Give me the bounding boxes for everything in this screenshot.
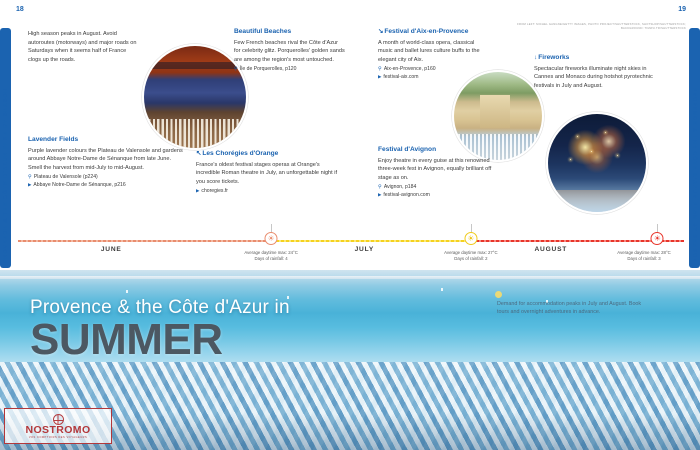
list-item[interactable]: ⚲ Île de Porquerolles, p120 bbox=[234, 66, 346, 74]
list-item[interactable]: ▶ festival-avignon.com bbox=[378, 192, 492, 200]
avignon-title: Festival d'Avignon bbox=[378, 146, 492, 154]
sun-icon: ☀ bbox=[464, 232, 477, 245]
map-pin-icon: ⚲ bbox=[378, 66, 382, 73]
triangle-icon: ▶ bbox=[196, 188, 199, 195]
beaches-links: ⚲ Île de Porquerolles, p120 bbox=[234, 66, 346, 74]
weather-stat-july: Average daytime max: 27°C Days of rainfa… bbox=[416, 250, 526, 263]
intro-body: High season peaks in August. Avoid autor… bbox=[28, 30, 140, 64]
watermark-name: NOSTROMO bbox=[25, 425, 90, 436]
fireworks-body: Spectacular fireworks illuminate night s… bbox=[534, 65, 658, 91]
link-label: Abbaye Notre-Dame de Sénanque, p216 bbox=[33, 182, 125, 190]
link-label: Avignon, p184 bbox=[384, 184, 416, 192]
aix-body: A month of world-class opera, classical … bbox=[378, 39, 488, 65]
fireworks-over-bay-photo bbox=[546, 112, 648, 214]
sun-icon bbox=[495, 291, 502, 298]
roman-theatre-opera-photo bbox=[142, 44, 248, 150]
lavender-title: Lavender Fields bbox=[28, 136, 186, 144]
timeline-month-june: JUNE bbox=[101, 246, 122, 253]
horizon-line bbox=[0, 276, 700, 279]
intro-block: High season peaks in August. Avoid autor… bbox=[28, 30, 140, 64]
left-running-head: PROVENCE & THE CÔTE D'AZUR PLAN BY SEASO… bbox=[3, 35, 9, 263]
beautiful-beaches-block: Beautiful Beaches Few French beaches riv… bbox=[234, 28, 346, 74]
page-number-right: 19 bbox=[678, 6, 686, 13]
timeline-segment-july bbox=[271, 240, 471, 242]
choregies-title: ↖Les Chorégies d'Orange bbox=[196, 150, 342, 158]
season-timeline: JUNE JULY AUGUST ☀ ☀ ☀ Average daytime m… bbox=[18, 236, 684, 268]
link-label: Aix-en-Provence, p160 bbox=[384, 66, 436, 74]
rainfall-days: Days of rainfall: 4 bbox=[216, 256, 326, 262]
choregies-links: ▶ choregies.fr bbox=[196, 188, 342, 196]
triangle-icon: ▶ bbox=[378, 192, 381, 199]
timeline-bar bbox=[18, 240, 684, 242]
choregies-title-text: Les Chorégies d'Orange bbox=[202, 150, 278, 157]
lavender-fields-block: Lavender Fields Purple lavender colours … bbox=[28, 136, 186, 189]
triangle-icon: ▶ bbox=[378, 74, 381, 81]
hero-note: Demand for accommodation peaks in July a… bbox=[497, 300, 647, 317]
photo-credits: FROM LEFT: MICHEL GANGNE/GETTY IMAGES, P… bbox=[506, 23, 686, 31]
map-pin-icon: ⚲ bbox=[28, 174, 32, 181]
watermark-subtitle: VOS COMPTOIRS DES VOYAGEURS bbox=[29, 436, 87, 439]
map-pin-icon: ⚲ bbox=[234, 66, 238, 73]
page-number-left: 18 bbox=[16, 6, 24, 13]
sun-icon: ☀ bbox=[651, 232, 664, 245]
arrow-down-icon: ↓ bbox=[534, 54, 537, 61]
right-running-head: PROVENCE & THE CÔTE D'AZUR PLAN BY SEASO… bbox=[691, 35, 697, 263]
rainfall-days: Days of rainfall: 3 bbox=[589, 256, 699, 262]
list-item[interactable]: ▶ Abbaye Notre-Dame de Sénanque, p216 bbox=[28, 182, 186, 190]
triangle-icon: ▶ bbox=[28, 182, 31, 189]
sun-icon: ☀ bbox=[265, 232, 278, 245]
festival-avignon-block: Festival d'Avignon Enjoy theatre in ever… bbox=[378, 146, 492, 199]
nostromo-watermark: NOSTROMO VOS COMPTOIRS DES VOYAGEURS bbox=[4, 408, 112, 444]
link-label: Plateau de Valensole (p224) bbox=[34, 174, 98, 182]
beaches-title: Beautiful Beaches bbox=[234, 28, 346, 36]
list-item[interactable]: ⚲ Plateau de Valensole (p224) bbox=[28, 174, 186, 182]
avignon-links: ⚲ Avignon, p184 ▶ festival-avignon.com bbox=[378, 184, 492, 199]
globe-icon bbox=[53, 414, 64, 425]
timeline-month-july: JULY bbox=[355, 246, 374, 253]
fireworks-block: ↓Fireworks Spectacular fireworks illumin… bbox=[534, 54, 658, 90]
list-item[interactable]: ⚲ Avignon, p184 bbox=[378, 184, 492, 192]
lavender-body: Purple lavender colours the Plateau de V… bbox=[28, 147, 186, 173]
timeline-segment-june bbox=[18, 240, 271, 242]
fireworks-title: ↓Fireworks bbox=[534, 54, 658, 62]
map-pin-icon: ⚲ bbox=[378, 184, 382, 191]
arrow-up-left-icon: ↖ bbox=[196, 150, 201, 157]
link-label: choregies.fr bbox=[201, 188, 228, 196]
link-label: Île de Porquerolles, p120 bbox=[240, 66, 297, 74]
arrow-down-right-icon: ↘ bbox=[378, 28, 383, 35]
choregies-orange-block: ↖Les Chorégies d'Orange France's oldest … bbox=[196, 150, 342, 196]
lavender-links: ⚲ Plateau de Valensole (p224) ▶ Abbaye N… bbox=[28, 174, 186, 189]
hero-note-text: Demand for accommodation peaks in July a… bbox=[497, 301, 641, 315]
title-line-2: SUMMER bbox=[30, 318, 290, 363]
list-item[interactable]: ▶ choregies.fr bbox=[196, 188, 342, 196]
weather-stat-june: Average daytime max: 24°C Days of rainfa… bbox=[216, 250, 326, 263]
avignon-body: Enjoy theatre in every guise at this ren… bbox=[378, 157, 492, 183]
link-label: festival-aix.com bbox=[383, 74, 418, 82]
timeline-month-august: AUGUST bbox=[534, 246, 567, 253]
weather-stat-august: Average daytime max: 28°C Days of rainfa… bbox=[589, 250, 699, 263]
page-title: Provence & the Côte d'Azur in SUMMER bbox=[30, 298, 290, 363]
aix-title: ↘Festival d'Aix-en-Provence bbox=[378, 28, 488, 36]
fireworks-title-text: Fireworks bbox=[538, 54, 569, 61]
choregies-body: France's oldest festival stages operas a… bbox=[196, 161, 342, 187]
aix-title-text: Festival d'Aix-en-Provence bbox=[384, 28, 468, 35]
link-label: festival-avignon.com bbox=[383, 192, 429, 200]
beaches-body: Few French beaches rival the Côte d'Azur… bbox=[234, 39, 346, 65]
rainfall-days: Days of rainfall: 2 bbox=[416, 256, 526, 262]
page-spread: PROVENCE & THE CÔTE D'AZUR PLAN BY SEASO… bbox=[0, 0, 700, 450]
